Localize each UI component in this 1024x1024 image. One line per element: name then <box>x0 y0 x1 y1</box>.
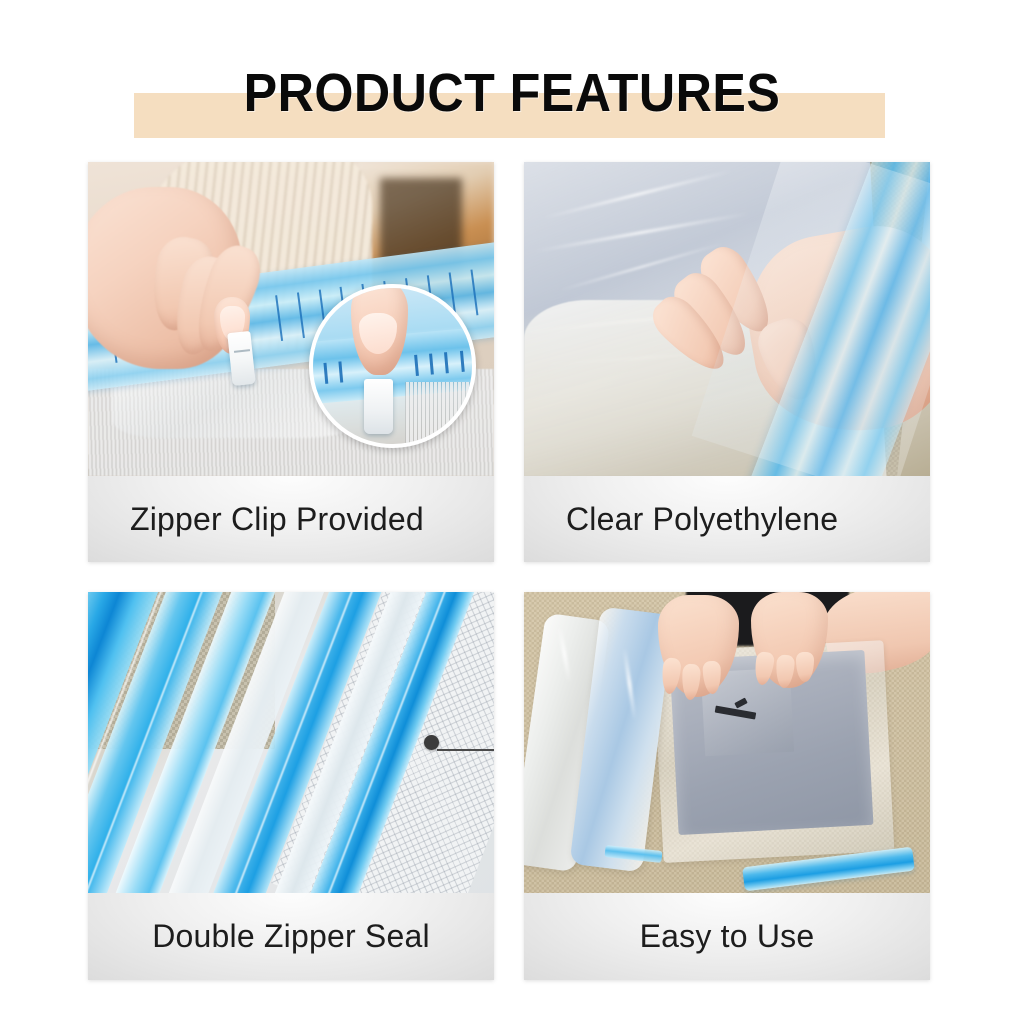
caption-bar-clear-polyethylene: Clear Polyethylene <box>524 476 930 562</box>
magnified-inset <box>309 284 475 447</box>
page-header: PRODUCT FEATURES <box>0 0 1024 160</box>
caption-label: Double Zipper Seal <box>152 918 430 955</box>
caption-bar-double-zipper-seal: Double Zipper Seal <box>88 893 494 980</box>
feature-card-easy-to-use[interactable]: Easy to Use <box>524 592 930 980</box>
feature-card-double-zipper-seal[interactable]: Double Zipper Seal <box>88 592 494 980</box>
feature-photo-easy-to-use <box>524 592 930 893</box>
feature-photo-clear-polyethylene <box>524 162 930 476</box>
feature-card-clear-polyethylene[interactable]: Clear Polyethylene <box>524 162 930 562</box>
caption-label: Easy to Use <box>640 918 815 955</box>
caption-bar-zipper-clip: Zipper Clip Provided <box>88 476 494 562</box>
caption-label: Zipper Clip Provided <box>130 501 424 538</box>
page-title: PRODUCT FEATURES <box>36 66 988 120</box>
annotation-pointer-line <box>437 749 494 751</box>
caption-bar-easy-to-use: Easy to Use <box>524 893 930 980</box>
feature-card-zipper-clip[interactable]: Zipper Clip Provided <box>88 162 494 562</box>
features-grid: Zipper Clip Provided Clear Polyethylene <box>88 162 930 980</box>
caption-label: Clear Polyethylene <box>566 501 838 538</box>
feature-photo-double-zipper-seal <box>88 592 494 893</box>
inset-fabric <box>405 382 472 444</box>
inset-zipper-clip <box>364 379 393 435</box>
feature-photo-zipper-clip <box>88 162 494 476</box>
